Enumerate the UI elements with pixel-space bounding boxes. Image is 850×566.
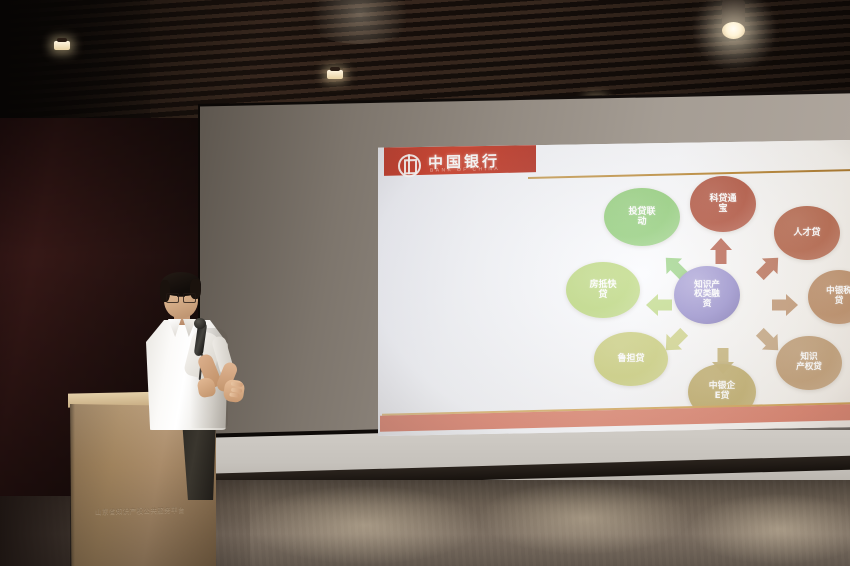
podium-left-edge [70,404,75,566]
microphone-head [194,318,206,329]
glasses-bridge [177,296,185,297]
speaker-left-hand [223,379,246,404]
ceiling-pendant-spotlight [722,0,745,34]
speaker [128,270,246,500]
finger-3 [229,392,239,397]
presentation-photo-scene: 中国银行 BANK OF CHINA 科贷通宝人才贷中银税贷知识产权贷中银企E贷… [0,0,850,566]
floor-light-pool-1 [250,486,480,564]
projected-slide: 中国银行 BANK OF CHINA 科贷通宝人才贷中银税贷知识产权贷中银企E贷… [378,140,850,436]
speaker-trousers [180,422,216,500]
ceiling-downlight-1 [54,41,70,50]
pendant-bulb [722,22,745,39]
podium-label: 山东省知识产权公共服务平台 [84,503,196,516]
glasses-icon [166,293,196,301]
slide-vignette [378,140,850,436]
ceiling-dark-left [0,0,150,118]
finger-1 [231,382,243,388]
ceiling-downlight-2 [327,70,343,79]
floor-light-pool-2 [480,482,690,554]
